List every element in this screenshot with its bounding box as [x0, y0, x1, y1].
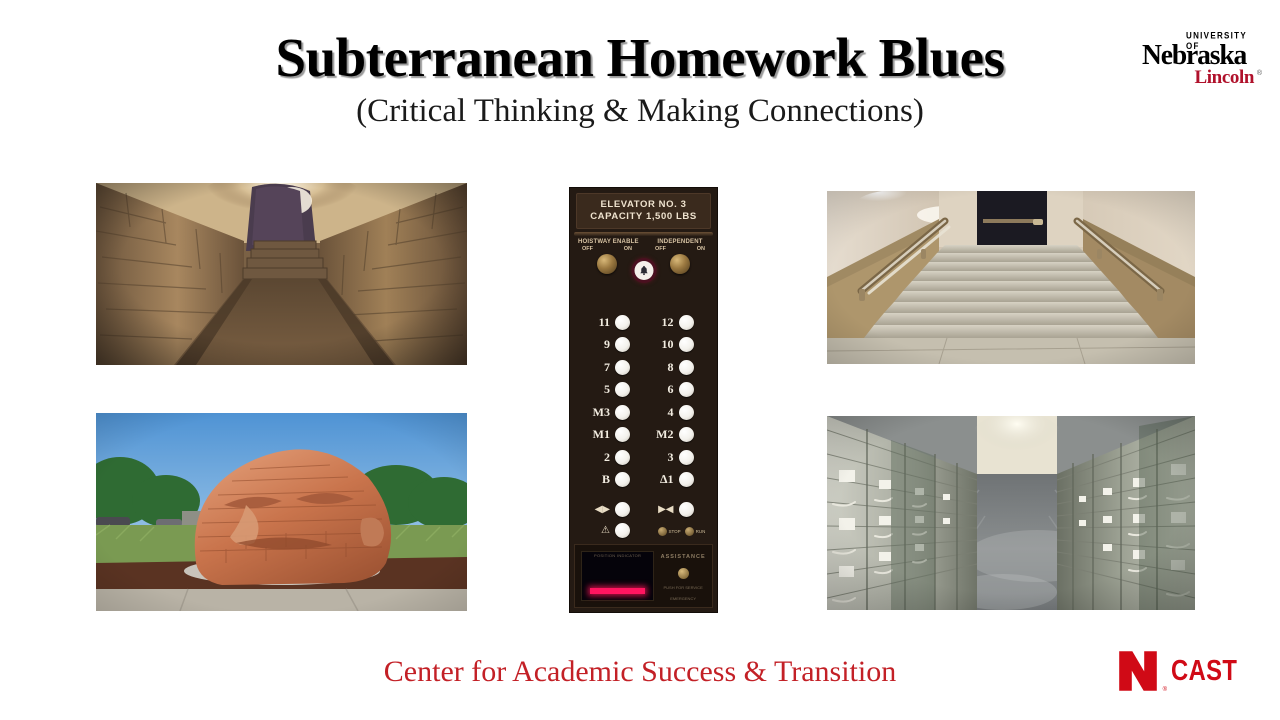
elevator-floor-cell: 11	[580, 315, 644, 330]
independent-label: INDEPENDENT	[651, 239, 709, 245]
floor-label: 5	[580, 382, 615, 397]
floor-button[interactable]	[615, 337, 630, 352]
floor-label: 7	[580, 360, 615, 375]
archive-cabinets-corridor-photo	[827, 416, 1195, 610]
floor-button[interactable]	[679, 382, 694, 397]
floor-button[interactable]	[679, 315, 694, 330]
elevator-floor-row: M34	[580, 401, 707, 424]
floor-label: ∆1	[644, 472, 679, 487]
floor-button[interactable]	[679, 450, 694, 465]
elevator-capacity-label: CAPACITY 1,500 LBS	[579, 211, 708, 223]
assistance-sub-1: PUSH FOR SERVICE	[660, 585, 706, 590]
elevator-floor-cell: 10	[644, 337, 708, 352]
position-indicator-light	[590, 588, 645, 594]
floor-label: 12	[644, 315, 679, 330]
elevator-floor-cell: 6	[644, 382, 708, 397]
door-open-icon: ◀▶	[580, 504, 615, 515]
key-switch-stop[interactable]	[658, 527, 667, 536]
floor-button[interactable]	[679, 405, 694, 420]
elevator-bottom-section: POSITION INDICATOR ASSISTANCE PUSH FOR S…	[574, 544, 713, 608]
alarm-icon: ⚠	[580, 525, 615, 536]
elevator-floor-row: 56	[580, 378, 707, 401]
elevator-floor-cell: 7	[580, 360, 644, 375]
floor-button[interactable]	[615, 315, 630, 330]
floor-label: B	[580, 472, 615, 487]
key-switch-group[interactable]: STOP RUN	[654, 524, 706, 538]
elevator-floor-button-grid: 11129107856M34M1M223B∆1	[580, 311, 707, 491]
elevator-floor-cell: 5	[580, 382, 644, 397]
independent-knob[interactable]	[670, 254, 690, 274]
floor-label: 3	[644, 450, 679, 465]
floor-label: 2	[580, 450, 615, 465]
key-switch-run[interactable]	[685, 527, 694, 536]
title-block: Subterranean Homework Blues (Critical Th…	[0, 28, 1280, 130]
independent-off-label: OFF	[655, 246, 666, 252]
page-subtitle: (Critical Thinking & Making Connections)	[0, 93, 1280, 129]
cast-logo: ® CAST	[1115, 645, 1252, 697]
elevator-header-plate: ELEVATOR NO. 3 CAPACITY 1,500 LBS	[576, 193, 711, 229]
unl-logo: UNIVERSITY OF Nebraska Lincoln ®	[1142, 30, 1262, 92]
assistance-knob[interactable]	[678, 568, 689, 579]
presentation-slide: Subterranean Homework Blues (Critical Th…	[0, 0, 1280, 720]
elevator-floor-row: 910	[580, 333, 707, 356]
floor-label: M1	[580, 427, 615, 442]
stairwell-photo	[827, 191, 1195, 364]
elevator-floor-row: M1M2	[580, 423, 707, 446]
elevator-number-label: ELEVATOR NO. 3	[579, 199, 708, 211]
elevator-floor-cell: M3	[580, 405, 644, 420]
floor-button[interactable]	[679, 337, 694, 352]
assistance-title: ASSISTANCE	[660, 551, 706, 560]
alarm-button[interactable]	[615, 523, 630, 538]
elevator-door-controls: ◀▶ ▶◀ ⚠ STOP RUN	[580, 499, 707, 541]
brick-head-sculpture-photo	[96, 413, 467, 611]
floor-button[interactable]	[615, 405, 630, 420]
floor-button[interactable]	[679, 360, 694, 375]
elevator-floor-cell: 2	[580, 450, 644, 465]
hoistway-enable-label: HOISTWAY ENABLE	[578, 239, 636, 245]
door-close-icon: ▶◀	[644, 504, 679, 515]
elevator-floor-cell: ∆1	[644, 472, 708, 487]
hoistway-on-label: ON	[624, 246, 632, 252]
independent-on-label: ON	[697, 246, 705, 252]
floor-button[interactable]	[615, 382, 630, 397]
floor-label: 4	[644, 405, 679, 420]
elevator-floor-cell: 9	[580, 337, 644, 352]
page-title: Subterranean Homework Blues	[0, 28, 1280, 87]
elevator-floor-row: 1112	[580, 311, 707, 334]
floor-label: M2	[644, 427, 679, 442]
elevator-control-panel-photo: ELEVATOR NO. 3 CAPACITY 1,500 LBS HOISTW…	[569, 187, 718, 613]
independent-switch[interactable]: INDEPENDENT OFF ON	[651, 239, 709, 274]
elevator-floor-cell: B	[580, 472, 644, 487]
key-stop-label: STOP	[669, 529, 681, 534]
floor-label: 9	[580, 337, 615, 352]
assistance-panel[interactable]: ASSISTANCE PUSH FOR SERVICE EMERGENCY	[660, 551, 706, 601]
floor-label: 8	[644, 360, 679, 375]
cast-registered-mark: ®	[1163, 687, 1167, 693]
elevator-floor-cell: 3	[644, 450, 708, 465]
elevator-switch-row: HOISTWAY ENABLE OFF ON INDEPENDENT OFF O…	[576, 239, 711, 297]
floor-label: M3	[580, 405, 615, 420]
position-indicator-caption: POSITION INDICATOR	[582, 552, 653, 558]
floor-label: 10	[644, 337, 679, 352]
elevator-floor-row: 23	[580, 446, 707, 469]
floor-button[interactable]	[615, 427, 630, 442]
floor-button[interactable]	[615, 360, 630, 375]
elevator-floor-cell: 12	[644, 315, 708, 330]
hoistway-enable-switch[interactable]: HOISTWAY ENABLE OFF ON	[578, 239, 636, 274]
elevator-floor-row: 78	[580, 356, 707, 379]
door-open-button[interactable]	[615, 502, 630, 517]
elevator-floor-cell: 8	[644, 360, 708, 375]
nebraska-n-icon: ®	[1115, 647, 1161, 695]
underground-tunnel-photo	[96, 183, 467, 365]
elevator-floor-row: B∆1	[580, 468, 707, 491]
floor-button[interactable]	[615, 472, 630, 487]
position-indicator-display: POSITION INDICATOR	[581, 551, 654, 601]
floor-button[interactable]	[679, 427, 694, 442]
footer-organization-name: Center for Academic Success & Transition	[0, 655, 1280, 689]
floor-button[interactable]	[615, 450, 630, 465]
panel-divider	[574, 232, 713, 236]
door-close-button[interactable]	[679, 502, 694, 517]
cast-wordmark: CAST	[1171, 655, 1237, 688]
unl-lincoln-wordmark: Lincoln	[1195, 67, 1255, 89]
hoistway-knob[interactable]	[597, 254, 617, 274]
unl-registered-mark: ®	[1257, 70, 1262, 77]
elevator-floor-cell: M1	[580, 427, 644, 442]
floor-button[interactable]	[679, 472, 694, 487]
floor-label: 6	[644, 382, 679, 397]
assistance-sub-2: EMERGENCY	[660, 596, 706, 601]
hoistway-off-label: OFF	[582, 246, 593, 252]
floor-label: 11	[580, 315, 615, 330]
key-run-label: RUN	[696, 529, 706, 534]
elevator-floor-cell: M2	[644, 427, 708, 442]
elevator-floor-cell: 4	[644, 405, 708, 420]
